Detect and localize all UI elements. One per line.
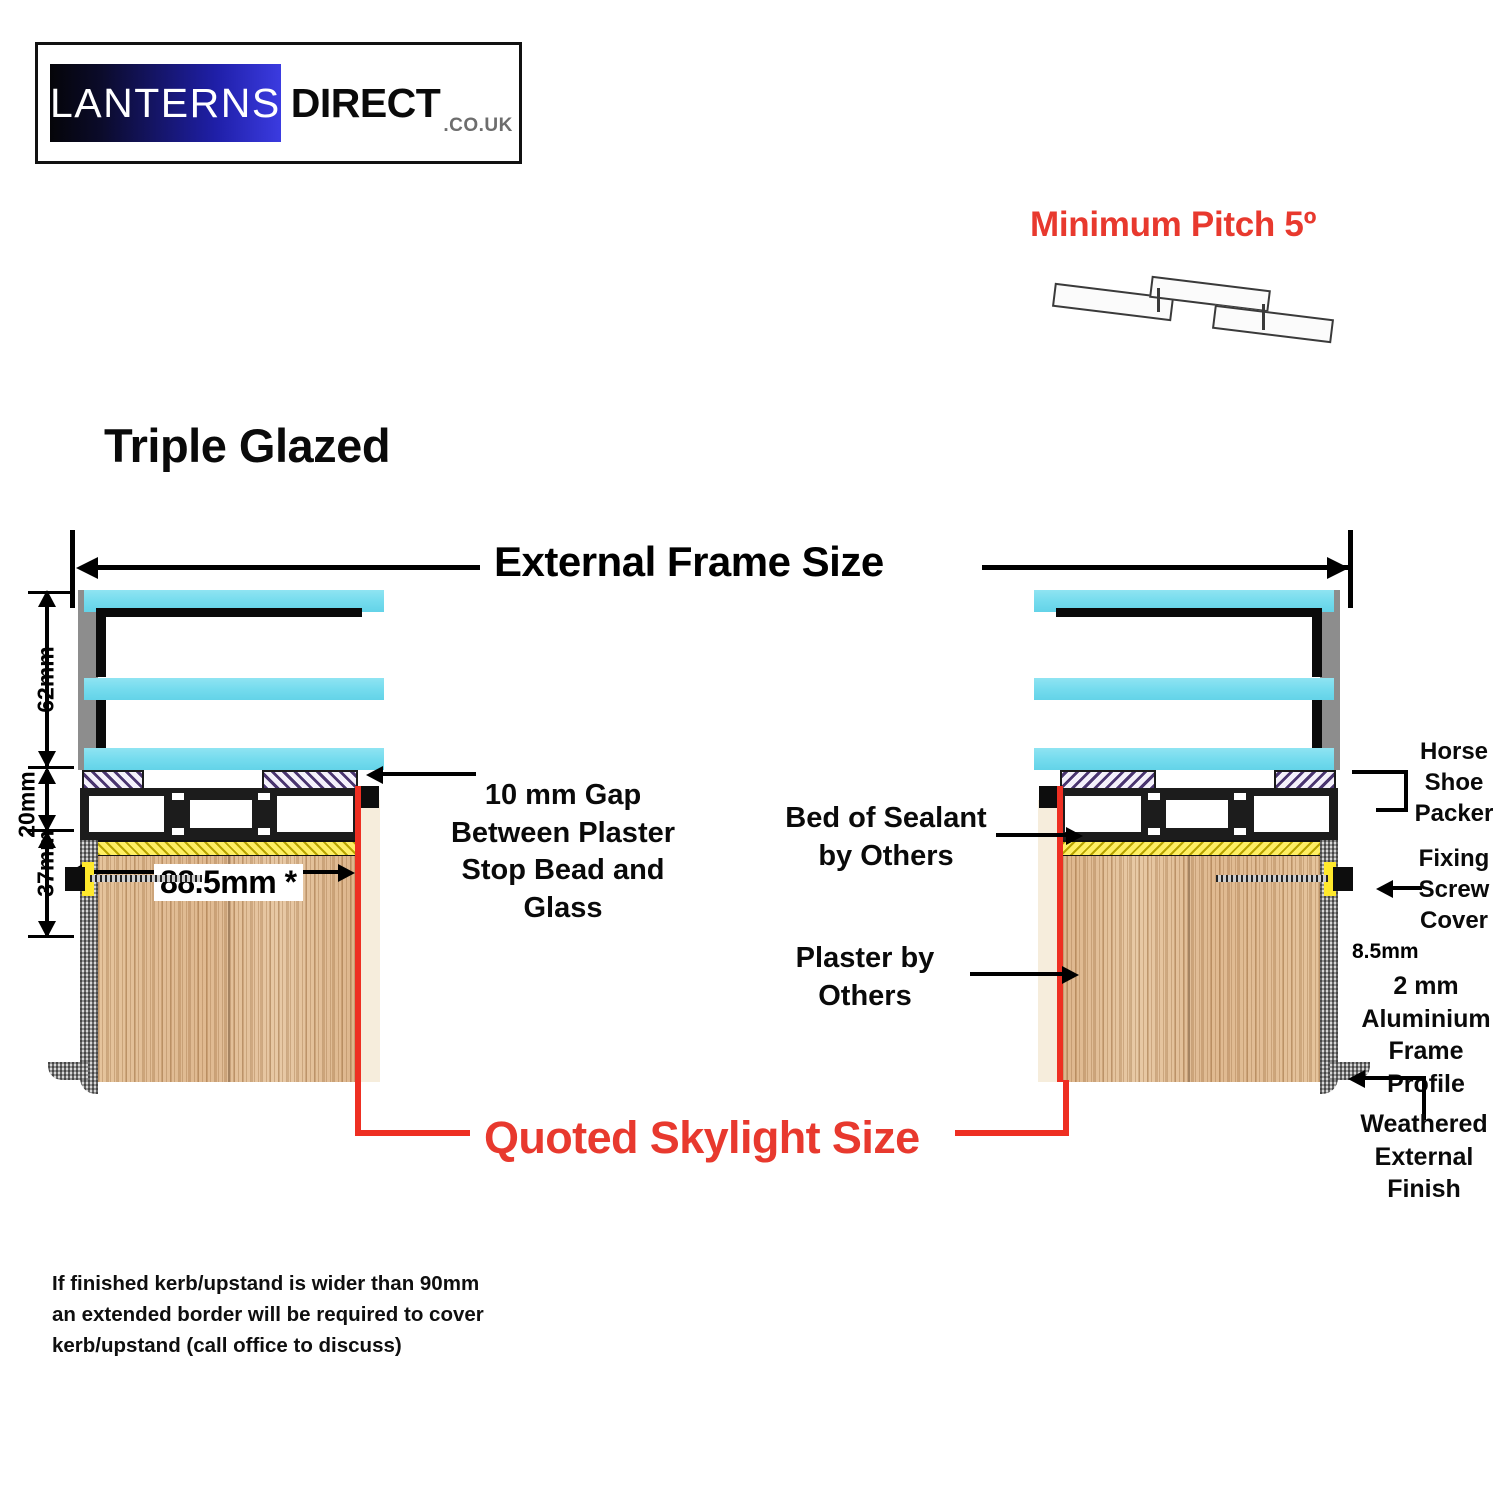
plaster-label: Plaster by Others: [770, 940, 960, 1015]
glass-spacer-top-right: [1056, 608, 1322, 617]
sealant-bed-left: [98, 840, 360, 857]
qss-witness-right: [1063, 1080, 1069, 1134]
right-cross-section: [1038, 590, 1358, 1100]
gap-note-line-4: Glass: [438, 890, 688, 928]
border-width-label: 8.5mm: [1352, 940, 1419, 964]
pitch-bar-right: [1212, 305, 1334, 343]
horse-shoe-packer-label: Horse Shoe Packer: [1408, 736, 1500, 830]
footnote: If finished kerb/upstand is wider than 9…: [52, 1268, 572, 1361]
quoted-skylight-size-label: Quoted Skylight Size: [470, 1112, 934, 1164]
brand-logo: LANTERNS DIRECT .CO.UK: [35, 42, 522, 164]
plaster-line-2: Others: [770, 978, 960, 1016]
hsp-line-3: Packer: [1408, 798, 1500, 829]
sealant-line-1: Bed of Sealant: [770, 800, 1002, 838]
frame-chamber-outer-right: [1254, 796, 1329, 832]
thermal-break-lower-right-left: [258, 828, 270, 835]
sealant-arrowhead: [1066, 827, 1083, 845]
weathered-external-finish-left-foot: [48, 1062, 88, 1080]
frame-chamber-centre-left: [190, 800, 252, 828]
efs-bar-left: [96, 565, 484, 570]
fixing-screw-cover-right: [1333, 867, 1353, 891]
fsc-line-3: Cover: [1408, 905, 1500, 936]
sealant-label: Bed of Sealant by Others: [770, 800, 1002, 875]
sealant-line-2: by Others: [770, 838, 1002, 876]
dim-20-arrow-top: [38, 767, 56, 784]
efs-arrowhead-left: [76, 557, 98, 579]
glazing-gasket-left-b: [262, 770, 358, 790]
thermal-break-lower-right-b: [1148, 828, 1160, 835]
fixing-screw-cover-label: Fixing Screw Cover: [1408, 843, 1500, 937]
logo-direct-text: DIRECT: [291, 80, 441, 127]
plaster-leader-line: [970, 972, 1066, 976]
frame-chamber-centre-right: [1166, 800, 1228, 828]
left-cross-section: [60, 590, 380, 1100]
glazing-gasket-right-a: [1274, 770, 1336, 790]
pitch-sketch: [1045, 280, 1345, 370]
plaster-by-others-left: [360, 800, 380, 1082]
qss-bar-right: [955, 1130, 1069, 1136]
alu-line-1: 2 mm: [1352, 970, 1500, 1003]
kerb-joint-line-right: [1189, 856, 1191, 1082]
pitch-step-left: [1157, 288, 1160, 312]
thermal-break-upper-right-a: [1234, 793, 1246, 800]
hsp-leader-top: [1352, 770, 1408, 774]
external-frame-size-label: External Frame Size: [480, 538, 898, 586]
gap-note-line-3: Stop Bead and: [438, 852, 688, 890]
kerb-width-label: 88.5mm *: [154, 864, 303, 901]
thermal-break-lower-left: [172, 828, 184, 835]
dim-62-label: 62mm: [33, 638, 60, 722]
footnote-line-1: If finished kerb/upstand is wider than 9…: [52, 1268, 572, 1299]
glazing-gasket-left-a: [82, 770, 144, 790]
hsp-leader-tail: [1376, 808, 1408, 812]
dim-37-label: 37mm: [33, 822, 60, 906]
thermal-break-upper-right-b: [1148, 793, 1160, 800]
sealant-leader: [996, 826, 1086, 848]
sealant-leader-line: [996, 833, 1070, 837]
thermal-break-lower-right-a: [1234, 828, 1246, 835]
footnote-line-3: kerb/upstand (call office to discuss): [52, 1330, 572, 1361]
fixing-screw-cover-left: [65, 867, 85, 891]
qss-witness-left: [355, 1080, 361, 1134]
frame-chamber-outer-left: [89, 796, 164, 832]
hsp-line-1: Horse: [1408, 736, 1500, 767]
efs-bar-right: [982, 565, 1348, 570]
minimum-pitch-title: Minimum Pitch 5º: [1030, 205, 1316, 245]
plaster-line-1: Plaster by: [770, 940, 960, 978]
plaster-stop-bead-line-left: [355, 786, 361, 1082]
glass-pane-inner-left: [84, 748, 384, 770]
fixing-screw-left: [90, 875, 202, 882]
plaster-arrowhead: [1062, 966, 1079, 984]
logo-lanterns-text: LANTERNS: [50, 80, 281, 127]
glass-pane-middle-right: [1034, 678, 1334, 700]
fsc-line-1: Fixing: [1408, 843, 1500, 874]
gap-note-line-2: Between Plaster: [438, 815, 688, 853]
gap-note-line: [380, 772, 476, 776]
gap-note-label: 10 mm Gap Between Plaster Stop Bead and …: [438, 777, 688, 928]
sealant-bed-right: [1058, 840, 1320, 857]
qss-bar-left: [355, 1130, 485, 1136]
wef-line-3: Finish: [1352, 1173, 1496, 1206]
alu-line-2: Aluminium: [1352, 1003, 1500, 1036]
fsc-line-2: Screw: [1408, 874, 1500, 905]
pitch-step-right: [1262, 304, 1265, 330]
plaster-stop-bead-cap-left: [361, 786, 379, 808]
glass-pane-inner-right: [1034, 748, 1334, 770]
frame-chamber-inner-left: [277, 796, 353, 832]
plaster-leader: [970, 965, 1080, 987]
logo-gradient-block: LANTERNS: [50, 64, 281, 142]
glass-spacer-top-left: [96, 608, 362, 617]
plaster-stop-bead-cap-right: [1039, 786, 1057, 808]
gap-note-line-1: 10 mm Gap: [438, 777, 688, 815]
hsp-line-2: Shoe: [1408, 767, 1500, 798]
glass-pane-middle-left: [84, 678, 384, 700]
glazing-gasket-right-b: [1060, 770, 1156, 790]
thermal-break-upper-right-left: [258, 793, 270, 800]
thermal-break-upper-left: [172, 793, 184, 800]
page-title: Triple Glazed: [104, 418, 390, 473]
logo-tld-text: .CO.UK: [443, 115, 513, 151]
footnote-line-2: an extended border will be required to c…: [52, 1299, 572, 1330]
fixing-screw-right: [1216, 875, 1328, 882]
